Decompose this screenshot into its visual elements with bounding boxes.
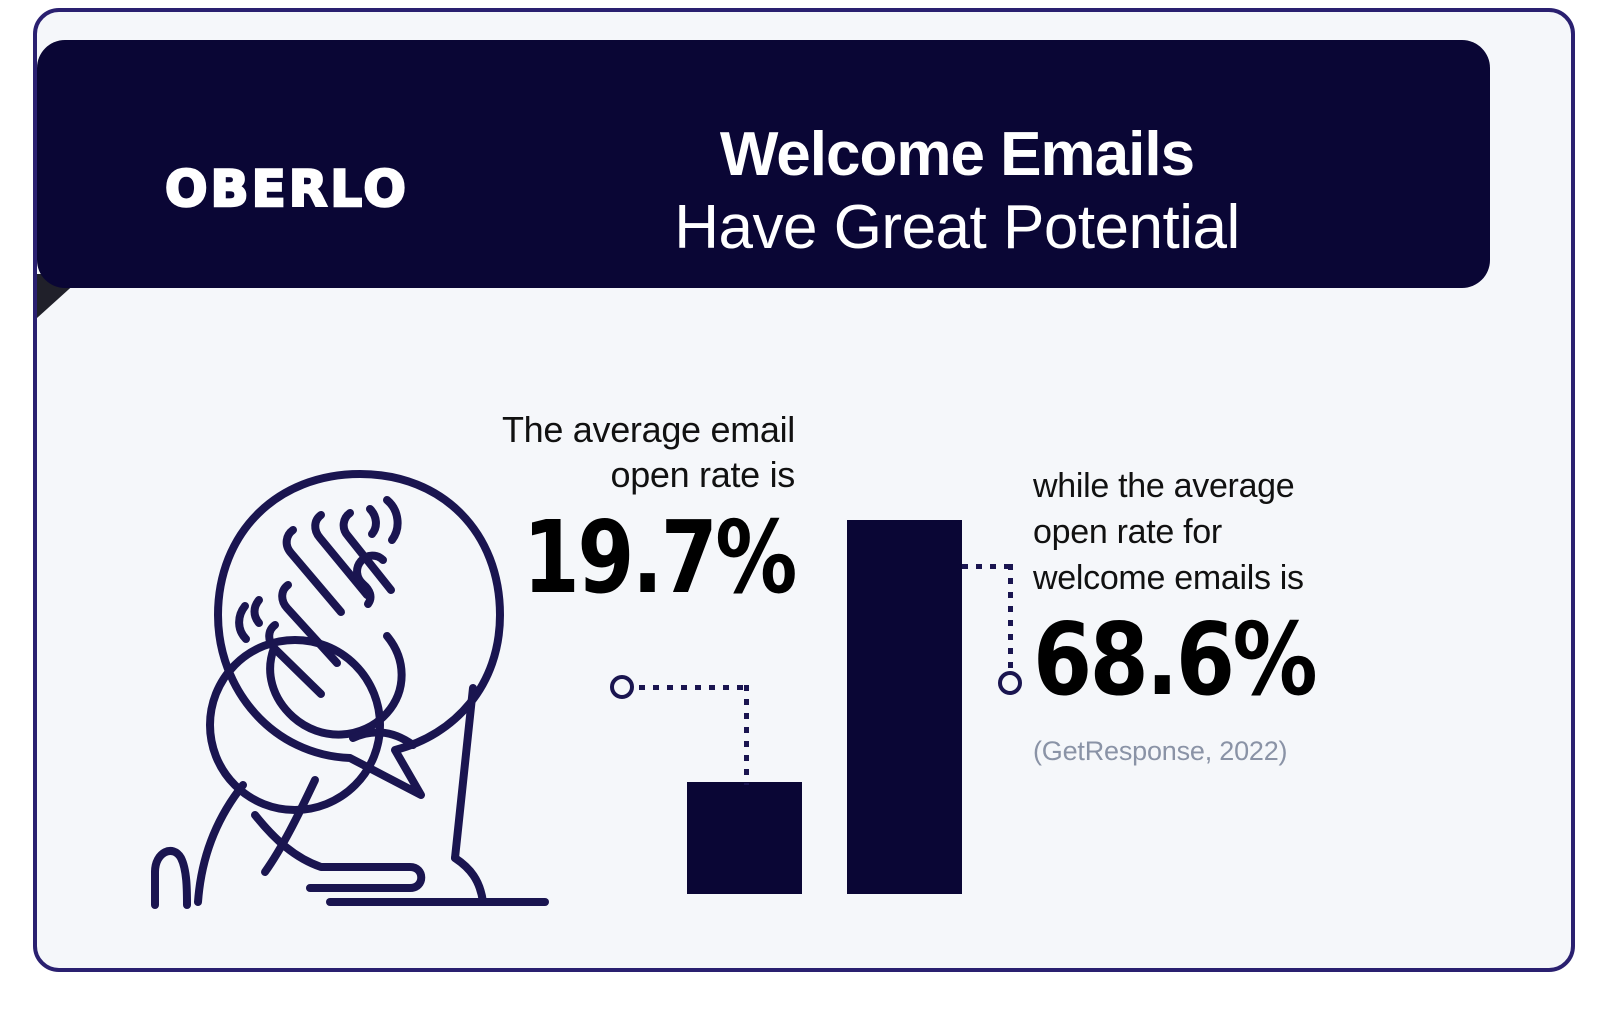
bar-welcome-open-rate [847,520,962,894]
left-stat-caption: The average email open rate is [417,407,795,498]
left-connector-dotted-horizontal [639,685,747,690]
right-caption-line-1: while the average [1033,467,1294,505]
right-connector-dotted-vertical [1008,564,1013,674]
right-stat-value: 68.6% [1033,610,1390,710]
left-connector-dotted-vertical [744,685,749,785]
header-banner: OBERLO Welcome Emails Have Great Potenti… [37,40,1490,288]
right-caption-line-3: welcome emails is [1033,559,1304,597]
source-citation: (GetResponse, 2022) [1033,736,1453,767]
left-caption-line-1: The average email [502,409,795,450]
left-connector-circle-marker [610,675,634,699]
infographic-canvas: OBERLO Welcome Emails Have Great Potenti… [0,0,1600,1016]
right-caption-line-2: open rate for [1033,513,1222,551]
page-title: Welcome Emails Have Great Potential [457,122,1457,260]
bar-average-open-rate [687,782,802,894]
right-statistic-block: while the average open rate for welcome … [1033,464,1453,767]
right-stat-caption: while the average open rate for welcome … [1033,464,1453,602]
right-connector-dotted-horizontal [962,564,1012,569]
infographic-card: OBERLO Welcome Emails Have Great Potenti… [33,8,1575,972]
title-line-2: Have Great Potential [457,195,1457,261]
left-stat-value: 19.7% [485,508,795,608]
right-connector-circle-marker [998,671,1022,695]
left-caption-line-2: open rate is [610,454,795,495]
left-statistic-block: The average email open rate is 19.7% [417,407,795,608]
oberlo-logo: OBERLO [165,164,409,214]
title-line-1: Welcome Emails [457,122,1457,188]
